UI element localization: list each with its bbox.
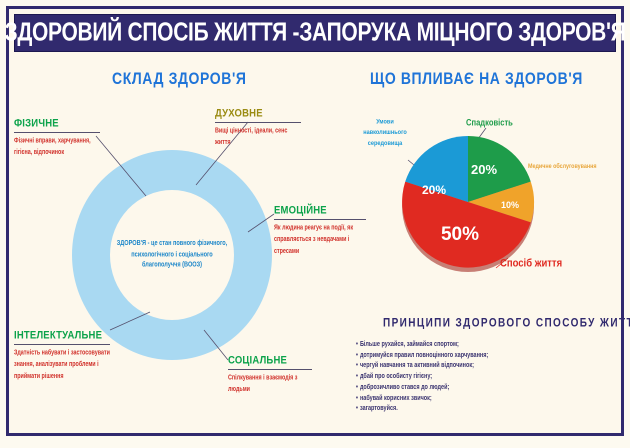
component-fizychne-desc: Фізичні вправи, харчування, гігієна, від… [14, 136, 100, 159]
bullet-icon: • [356, 394, 358, 402]
callout-rule [215, 122, 301, 123]
callout-rule [14, 132, 100, 133]
pie-label-umovy: Умови навколишнього середовища [354, 117, 416, 149]
right-section-heading: ЩО ВПЛИВАЄ НА ЗДОРОВ'Я [370, 69, 583, 88]
list-item-text: доброзичливо стався до людей; [360, 383, 449, 391]
component-intelektualne: ІНТЕЛЕКТУАЛЬНЕ Здатність набувати і заст… [14, 330, 110, 374]
pie-value-medychne: 10% [501, 200, 519, 210]
infographic-poster: ЗДОРОВИЙ СПОСІБ ЖИТТЯ -ЗАПОРУКА МІЦНОГО … [0, 0, 630, 448]
pie-value-umovy: 20% [422, 183, 446, 197]
bullet-icon: • [356, 341, 358, 349]
list-item-text: дотримуйся правил повноцінного харчуванн… [360, 351, 488, 359]
pie-svg: 20% 10% 50% 20% [398, 132, 538, 272]
principles-list: •Більше рухайся, займайся спортом; •дотр… [356, 338, 606, 413]
health-definition-text: ЗДОРОВ'Я - це стан повного фізичного, пс… [114, 239, 230, 271]
component-duhovne-desc: Вищі цінності, ідеали, сенс життя [215, 126, 301, 149]
list-item-text: набувай корисних звичок; [360, 394, 432, 402]
component-sotsialne: СОЦІАЛЬНЕ Спілкування і взаємодія з людь… [228, 355, 312, 391]
component-emotsiyne: ЕМОЦІЙНЕ Як людина реагує на події, як с… [274, 205, 366, 249]
bullet-icon: • [356, 405, 358, 413]
callout-rule [274, 219, 366, 220]
poster-title-bar: ЗДОРОВИЙ СПОСІБ ЖИТТЯ -ЗАПОРУКА МІЦНОГО … [14, 14, 616, 52]
bullet-icon: • [356, 351, 358, 359]
health-factors-pie-chart: 20% 10% 50% 20% [398, 132, 538, 272]
component-intelektualne-desc: Здатність набувати і застосовувати знанн… [14, 348, 110, 382]
list-item-text: загартовуйся. [360, 405, 398, 413]
pie-label-medychne: Медичне обслуговування [528, 163, 597, 170]
callout-rule [14, 344, 110, 345]
bullet-icon: • [356, 373, 358, 381]
component-duhovne-label: ДУХОВНЕ [215, 107, 301, 120]
bullet-icon: • [356, 362, 358, 370]
component-intelektualne-label: ІНТЕЛЕКТУАЛЬНЕ [14, 329, 110, 342]
list-item-text: чергуй навчання та активний відпочинок; [360, 362, 474, 370]
component-fizychne-label: ФІЗИЧНЕ [14, 117, 100, 130]
pie-label-sposib-zhyttya: Спосіб життя [500, 257, 562, 270]
component-fizychne: ФІЗИЧНЕ Фізичні вправи, харчування, гігі… [14, 118, 100, 154]
pie-value-sposib-zhyttya: 50% [441, 224, 479, 245]
pie-value-spadkovist: 20% [471, 162, 497, 177]
left-section-heading: СКЛАД ЗДОРОВ'Я [112, 69, 247, 88]
pie-label-spadkovist: Спадковість [466, 117, 513, 128]
component-emotsiyne-label: ЕМОЦІЙНЕ [274, 204, 366, 217]
component-sotsialne-label: СОЦІАЛЬНЕ [228, 354, 312, 367]
page-title: ЗДОРОВИЙ СПОСІБ ЖИТТЯ -ЗАПОРУКА МІЦНОГО … [5, 18, 626, 47]
component-sotsialne-desc: Спілкування і взаємодія з людьми [228, 373, 312, 396]
list-item-text: Більше рухайся, займайся спортом; [360, 341, 459, 349]
list-item: •загартовуйся. [356, 402, 606, 416]
component-emotsiyne-desc: Як людина реагує на події, як справляєть… [274, 223, 366, 257]
callout-rule [228, 369, 312, 370]
health-definition-box: ЗДОРОВ'Я - це стан повного фізичного, пс… [110, 190, 234, 320]
bullet-icon: • [356, 383, 358, 391]
list-item-text: дбай про особисту гігієну; [360, 373, 432, 381]
component-duhovne: ДУХОВНЕ Вищі цінності, ідеали, сенс житт… [215, 108, 301, 144]
principles-heading: ПРИНЦИПИ ЗДОРОВОГО СПОСОБУ ЖИТТЯ [383, 317, 630, 330]
